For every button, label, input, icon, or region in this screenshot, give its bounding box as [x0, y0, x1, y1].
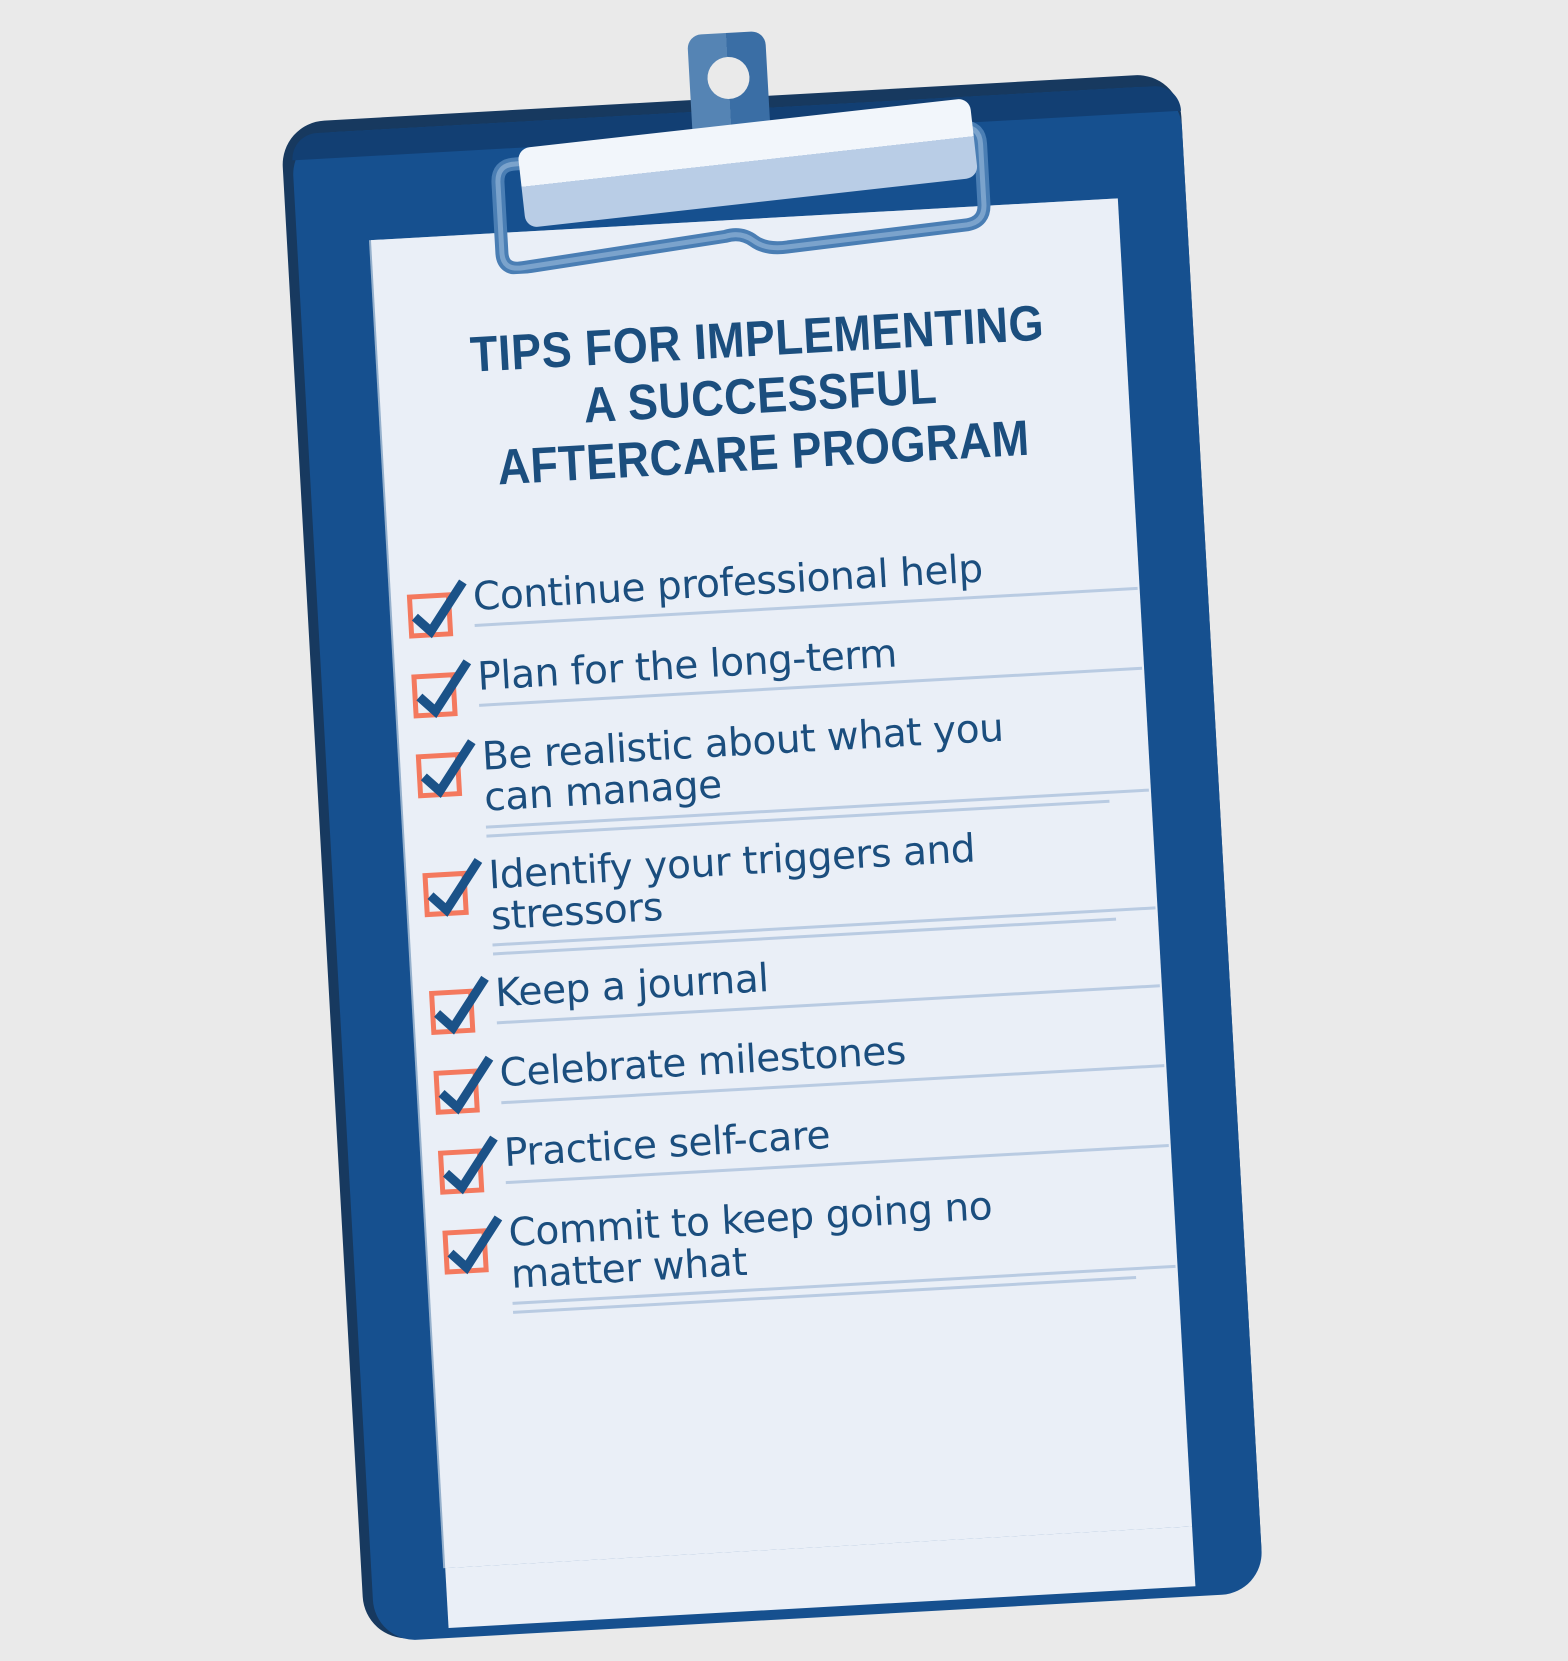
- clipboard-clip: [0, 0, 1568, 1589]
- illustration-stage: TIPS FOR IMPLEMENTING A SUCCESSFUL AFTER…: [0, 0, 1568, 1546]
- clipboard: TIPS FOR IMPLEMENTING A SUCCESSFUL AFTER…: [0, 0, 1568, 1589]
- clip-tab-hole-icon: [706, 56, 750, 100]
